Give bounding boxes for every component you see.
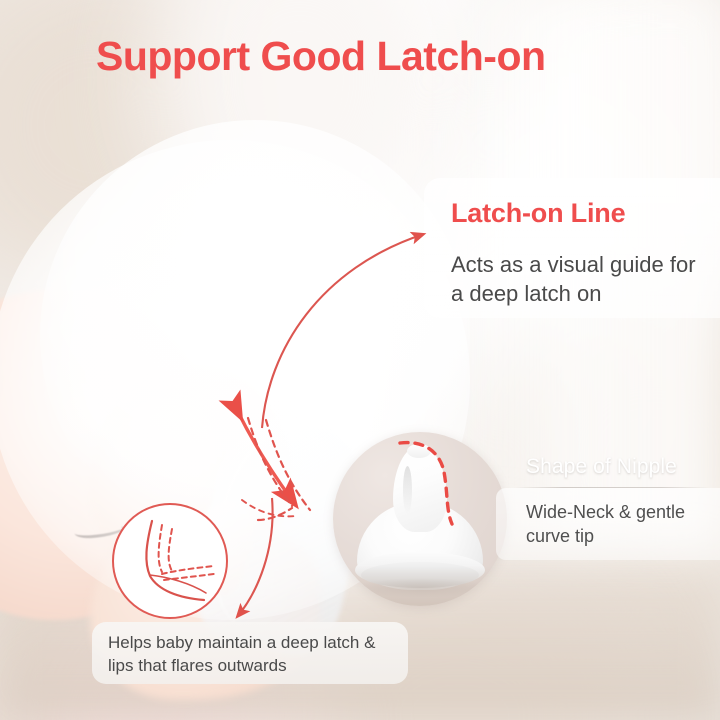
- shape-of-nipple-heading: Shape of Nipple: [526, 455, 677, 479]
- nipple-tip: [407, 444, 431, 458]
- infographic-canvas: Support Good Latch-on Latch-on Line Acts…: [0, 0, 720, 720]
- latch-on-line-body: Acts as a visual guide for a deep latch …: [451, 250, 701, 308]
- nipple-floor: [333, 566, 507, 606]
- page-title: Support Good Latch-on: [96, 33, 546, 80]
- nipple-closeup-photo: [333, 432, 507, 606]
- nipple-teat: [393, 446, 447, 532]
- shape-of-nipple-body: Wide-Neck & gentle curve tip: [526, 500, 716, 549]
- nipple-highlight: [403, 466, 412, 514]
- latch-on-line-heading: Latch-on Line: [451, 198, 625, 229]
- lip-flare-illustration: [112, 503, 228, 619]
- shape-of-nipple-divider: [514, 487, 710, 488]
- bottom-caption-text: Helps baby maintain a deep latch & lips …: [108, 631, 400, 678]
